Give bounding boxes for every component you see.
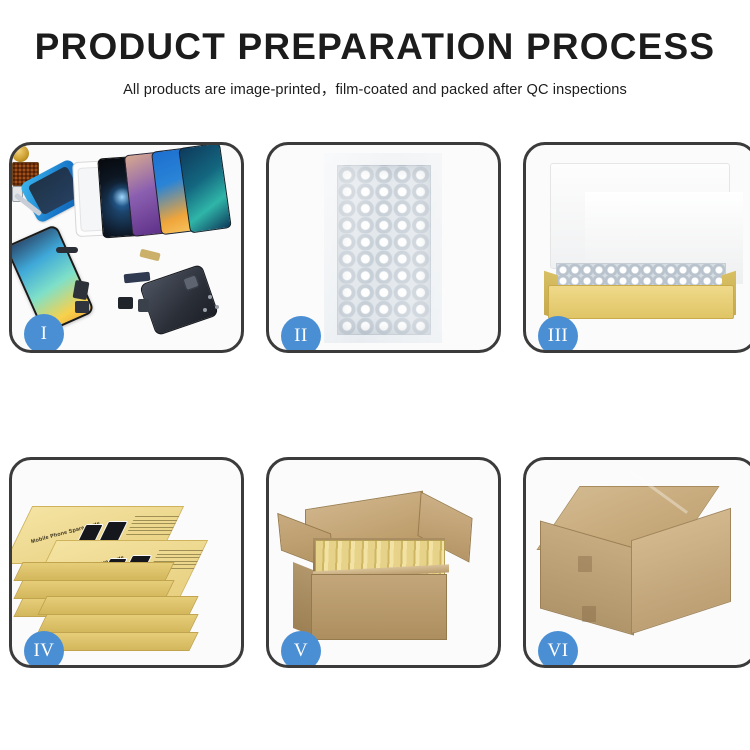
step-badge-4: IV [24,631,64,668]
step-panel-6: VI [523,457,750,668]
header: PRODUCT PREPARATION PROCESS All products… [0,28,750,99]
gold-connector-part-icon [139,249,160,262]
step-panel-1: I [9,142,244,353]
mailer-front-panel [548,285,734,319]
box-side-face [37,614,198,633]
carton-hand-hole [582,606,596,622]
screw-icon [215,305,219,309]
carton-front-face [311,574,447,640]
plastic-sheen-overlay [324,153,442,343]
page-subtitle: All products are image-printed，film-coat… [0,78,750,99]
step-panel-4: Mobile Phone Spare Parts Mobile Phone Sp… [9,457,244,668]
mailer-lid-icon [550,163,730,269]
box-side-face [13,562,174,581]
step-badge-1: I [24,314,64,353]
camera-module-2-part-icon [138,299,149,312]
steps-grid: I II III [9,142,741,676]
step-badge-5: V [281,631,321,668]
coil-part-icon [12,145,29,162]
step-panel-3: III [523,142,750,353]
step-panel-5: V [266,457,501,668]
phone-back-housing-icon [139,264,219,337]
step-panel-2: II [266,142,501,353]
screw-icon [203,308,207,312]
box-spec-lines [125,516,180,538]
speaker-part-icon [75,301,89,313]
step-badge-2: II [281,316,321,353]
camera-module-part-icon [118,297,133,309]
page-title: PRODUCT PREPARATION PROCESS [0,28,750,67]
screw-icon [208,295,212,299]
carton-hand-hole [578,556,592,572]
step-badge-3: III [538,316,578,353]
product-preparation-infographic: PRODUCT PREPARATION PROCESS All products… [0,0,750,750]
box-side-face [37,596,198,615]
button-strip-part-icon [56,247,78,253]
step-badge-6: VI [538,631,578,668]
carton-left-face [293,562,313,636]
